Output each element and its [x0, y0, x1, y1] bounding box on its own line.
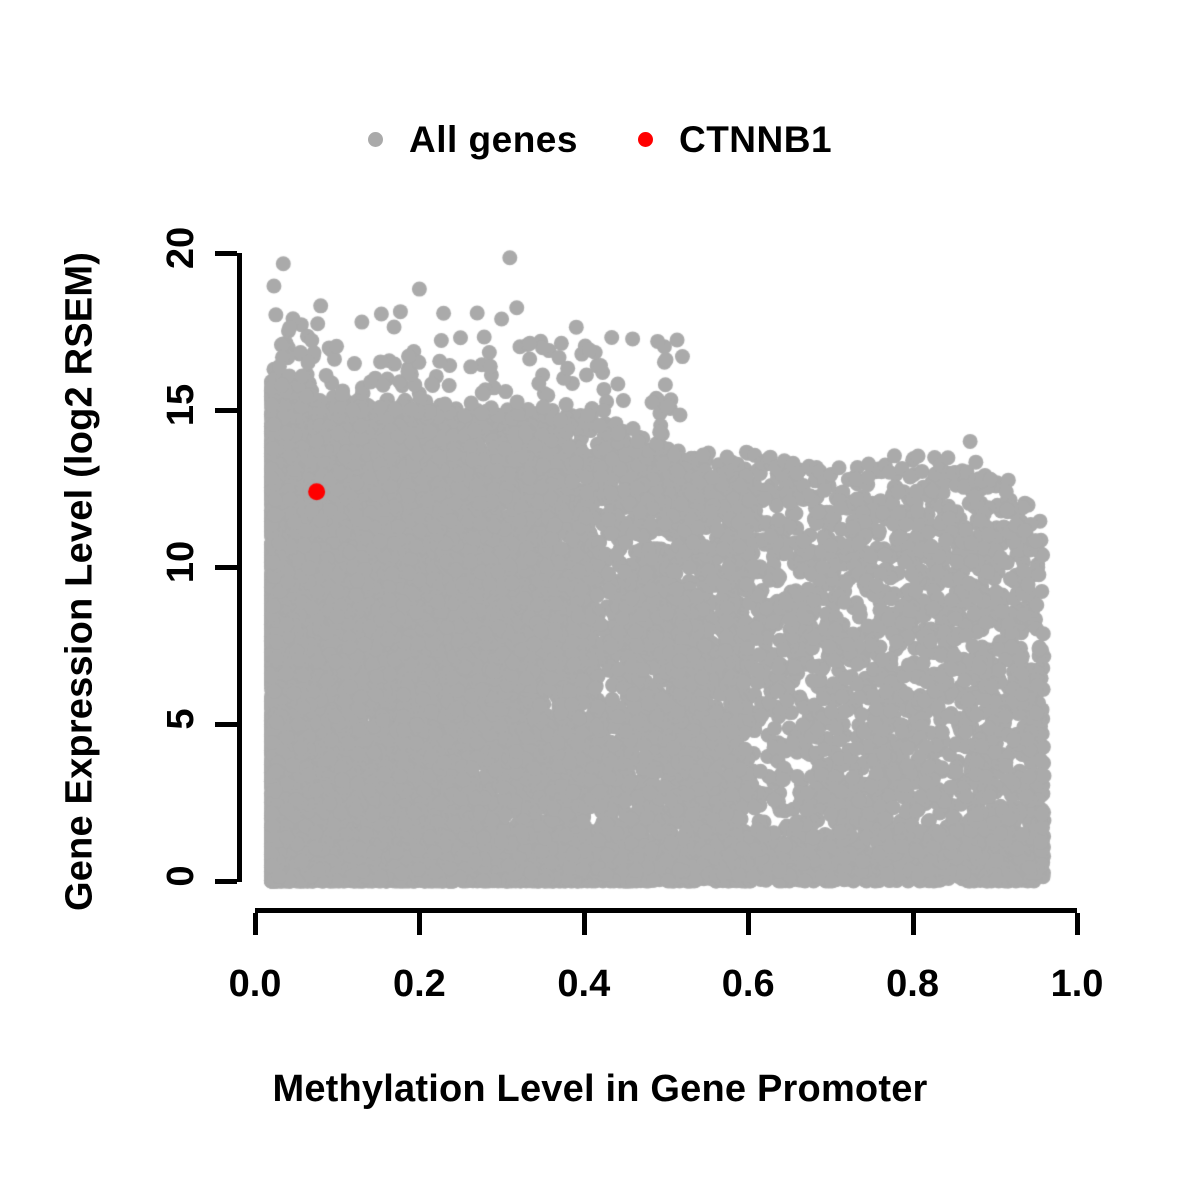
- x-tick: [582, 913, 587, 935]
- y-tick: [215, 879, 237, 884]
- y-axis-title: Gene Expression Level (log2 RSEM): [59, 132, 102, 1032]
- x-axis-line: [255, 908, 1077, 913]
- y-tick-label: 15: [162, 345, 200, 465]
- x-axis-title: Methylation Level in Gene Promoter: [0, 1068, 1200, 1111]
- x-tick: [911, 913, 916, 935]
- y-tick: [215, 722, 237, 727]
- chart-root: All genes CTNNB1 05101520 0.00.20.40.60.…: [0, 0, 1200, 1200]
- y-tick: [215, 408, 237, 413]
- x-tick: [253, 913, 258, 935]
- y-tick: [215, 251, 237, 256]
- x-tick: [746, 913, 751, 935]
- x-tick-label: 0.6: [688, 965, 808, 1003]
- y-axis-line: [237, 253, 242, 882]
- x-tick-label: 1.0: [1017, 965, 1137, 1003]
- y-tick-label: 10: [162, 502, 200, 622]
- y-tick-label: 0: [162, 816, 200, 936]
- x-tick-label: 0.0: [195, 965, 315, 1003]
- x-tick-label: 0.8: [853, 965, 973, 1003]
- y-tick-label: 5: [162, 659, 200, 779]
- x-tick-label: 0.4: [524, 965, 644, 1003]
- x-tick: [417, 913, 422, 935]
- x-tick: [1075, 913, 1080, 935]
- x-tick-label: 0.2: [359, 965, 479, 1003]
- y-tick-label: 20: [162, 188, 200, 308]
- y-tick: [215, 565, 237, 570]
